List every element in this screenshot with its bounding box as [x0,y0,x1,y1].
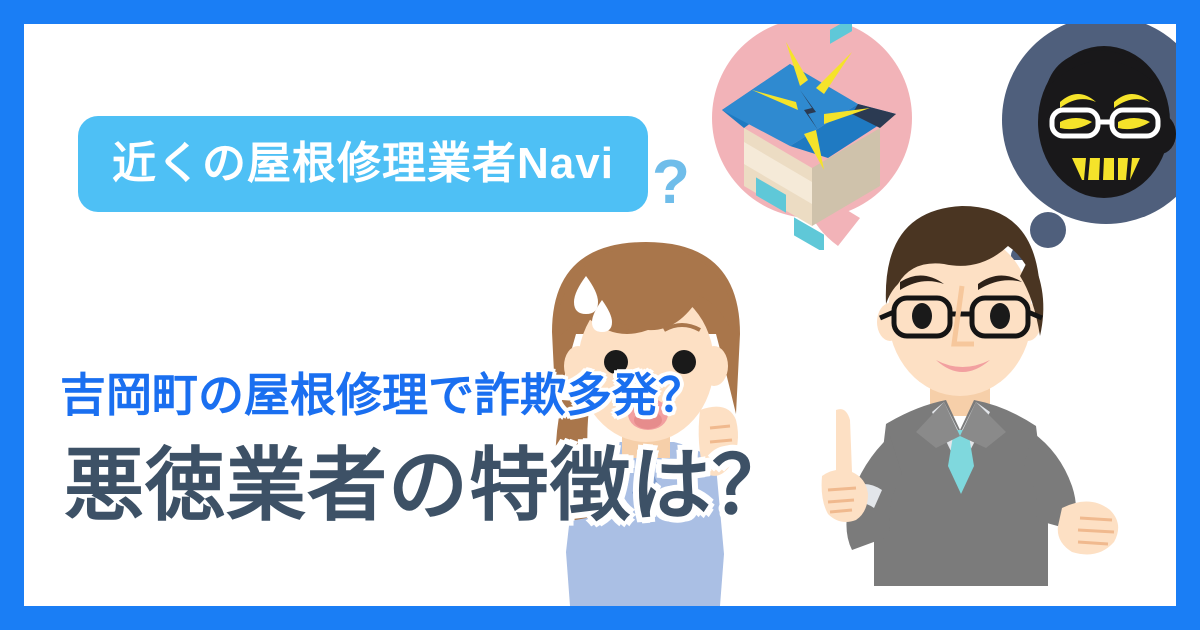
site-badge[interactable]: 近くの屋根修理業者Navi [78,116,648,212]
site-badge-label: 近くの屋根修理業者Navi [112,142,614,186]
content-area: 近くの屋根修理業者Navi ? 吉岡町の屋根修理で詐欺多発？ 悪徳業者の特徴は？ [24,24,1176,606]
headline-primary: 吉岡町の屋根修理で詐欺多発？ [60,370,704,421]
pointing-businessman-character [794,194,1124,606]
page-frame: 近くの屋根修理業者Navi ? 吉岡町の屋根修理で詐欺多発？ 悪徳業者の特徴は？ [0,0,1200,630]
question-mark-icon: ? [652,152,690,214]
headline-secondary: 悪徳業者の特徴は？ [64,440,793,532]
